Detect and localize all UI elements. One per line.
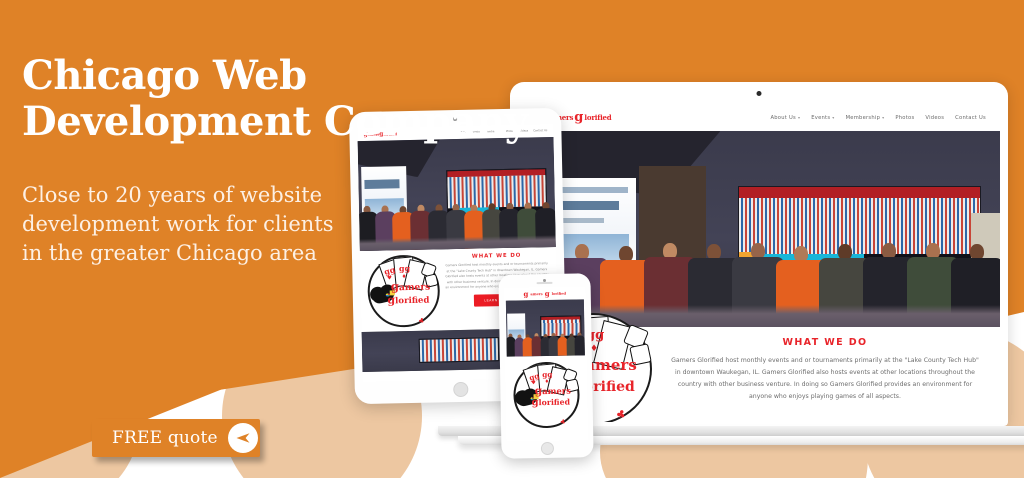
badge-word-gamers: gamers (391, 280, 431, 292)
page-title: Chicago Web Development Company (22, 53, 542, 146)
photo-tv-wall (419, 337, 500, 363)
phone-logo-amers: amers (530, 292, 542, 296)
nav-label: Videos (925, 115, 944, 121)
phone-mockup: g amers g lorified (498, 273, 593, 459)
site-nav-items: About Us▾ Events▾ Membership▾ Photos Vid… (770, 115, 986, 121)
badge-word-gamers: gamers (535, 385, 571, 396)
nav-item-events[interactable]: Events▾ (811, 115, 834, 121)
banner-canvas: gg g amers g lorified About Us▾ Events▾ … (0, 0, 1024, 478)
nav-label: About Us (770, 115, 796, 121)
nav-label: Membership (846, 115, 881, 121)
phone-logo-lorified: lorified (552, 291, 567, 295)
photo-person (575, 333, 585, 356)
badge-word-glorified: glorified (531, 397, 570, 408)
badge-club-icon: ♣ (559, 418, 566, 426)
banner-line (364, 180, 399, 190)
phone-logo-g2: g (545, 290, 550, 297)
nav-label: Contact Us (955, 115, 986, 121)
laptop-camera-icon (757, 91, 762, 96)
nav-label: Events (811, 115, 830, 121)
phone-speaker (537, 282, 553, 284)
section-body: Gamers Glorified host monthly events and… (666, 355, 984, 403)
nav-item-contact-us[interactable]: Contact Us (955, 115, 986, 121)
phone-hero-photo (506, 299, 585, 356)
badge-word-glorified: glorified (387, 294, 429, 306)
nav-item-about-us[interactable]: About Us▾ (770, 115, 800, 121)
badge-club-icon: ♣ (417, 316, 425, 325)
gamers-glorified-badge: gggg♥♦gamersglorified♣ (513, 361, 580, 428)
badge-club-icon: ♣ (614, 407, 627, 422)
tablet-home-button[interactable] (453, 382, 468, 397)
free-quote-label: FREE quote (112, 428, 218, 448)
badge-diamond-icon: ♦ (402, 275, 407, 281)
badge-diamond-icon: ♦ (545, 380, 550, 385)
photo-person-body (575, 336, 585, 356)
nav-label: Photos (895, 115, 914, 121)
nav-item-membership[interactable]: Membership▾ (846, 115, 885, 121)
phone-screen: g amers g lorified (504, 286, 589, 441)
badge-gg-mark: gg (399, 265, 410, 273)
tablet-section-title: WHAT WE DO (444, 252, 549, 260)
tv-top-bar (739, 187, 980, 198)
site-navbar: gg g amers g lorified About Us▾ Events▾ … (518, 104, 1000, 131)
phone-body: g amers g lorified (498, 273, 593, 459)
what-we-do-text: WHAT WE DO Gamers Glorified host monthly… (666, 335, 984, 403)
nav-item-photos[interactable]: Photos (895, 115, 914, 121)
photo-people-group (506, 331, 584, 357)
free-quote-button[interactable]: FREE quote (92, 419, 260, 457)
gamers-glorified-badge: gggg♥♦gamersglorified♣ (367, 254, 440, 327)
phone-camera-icon (543, 279, 546, 282)
logo-word-lorified: lorified (584, 113, 611, 122)
chevron-down-icon: ▾ (832, 115, 834, 120)
phone-logo-g: g (523, 290, 528, 297)
chevron-down-icon: ▾ (798, 115, 800, 120)
logo-initial-g2: g (574, 111, 583, 124)
page-subtitle: Close to 20 years of website development… (22, 181, 352, 268)
arrow-right-icon (228, 423, 258, 453)
tv-content (420, 338, 499, 362)
chevron-down-icon: ▾ (882, 115, 884, 120)
tablet-hero-photo (358, 137, 556, 251)
section-title: WHAT WE DO (666, 337, 984, 348)
phone-home-button[interactable] (541, 442, 554, 455)
badge-gg-mark: gg (542, 371, 552, 378)
nav-item-videos[interactable]: Videos (925, 115, 944, 121)
phone-badge-section: gggg♥♦gamersglorified♣ (505, 355, 588, 434)
